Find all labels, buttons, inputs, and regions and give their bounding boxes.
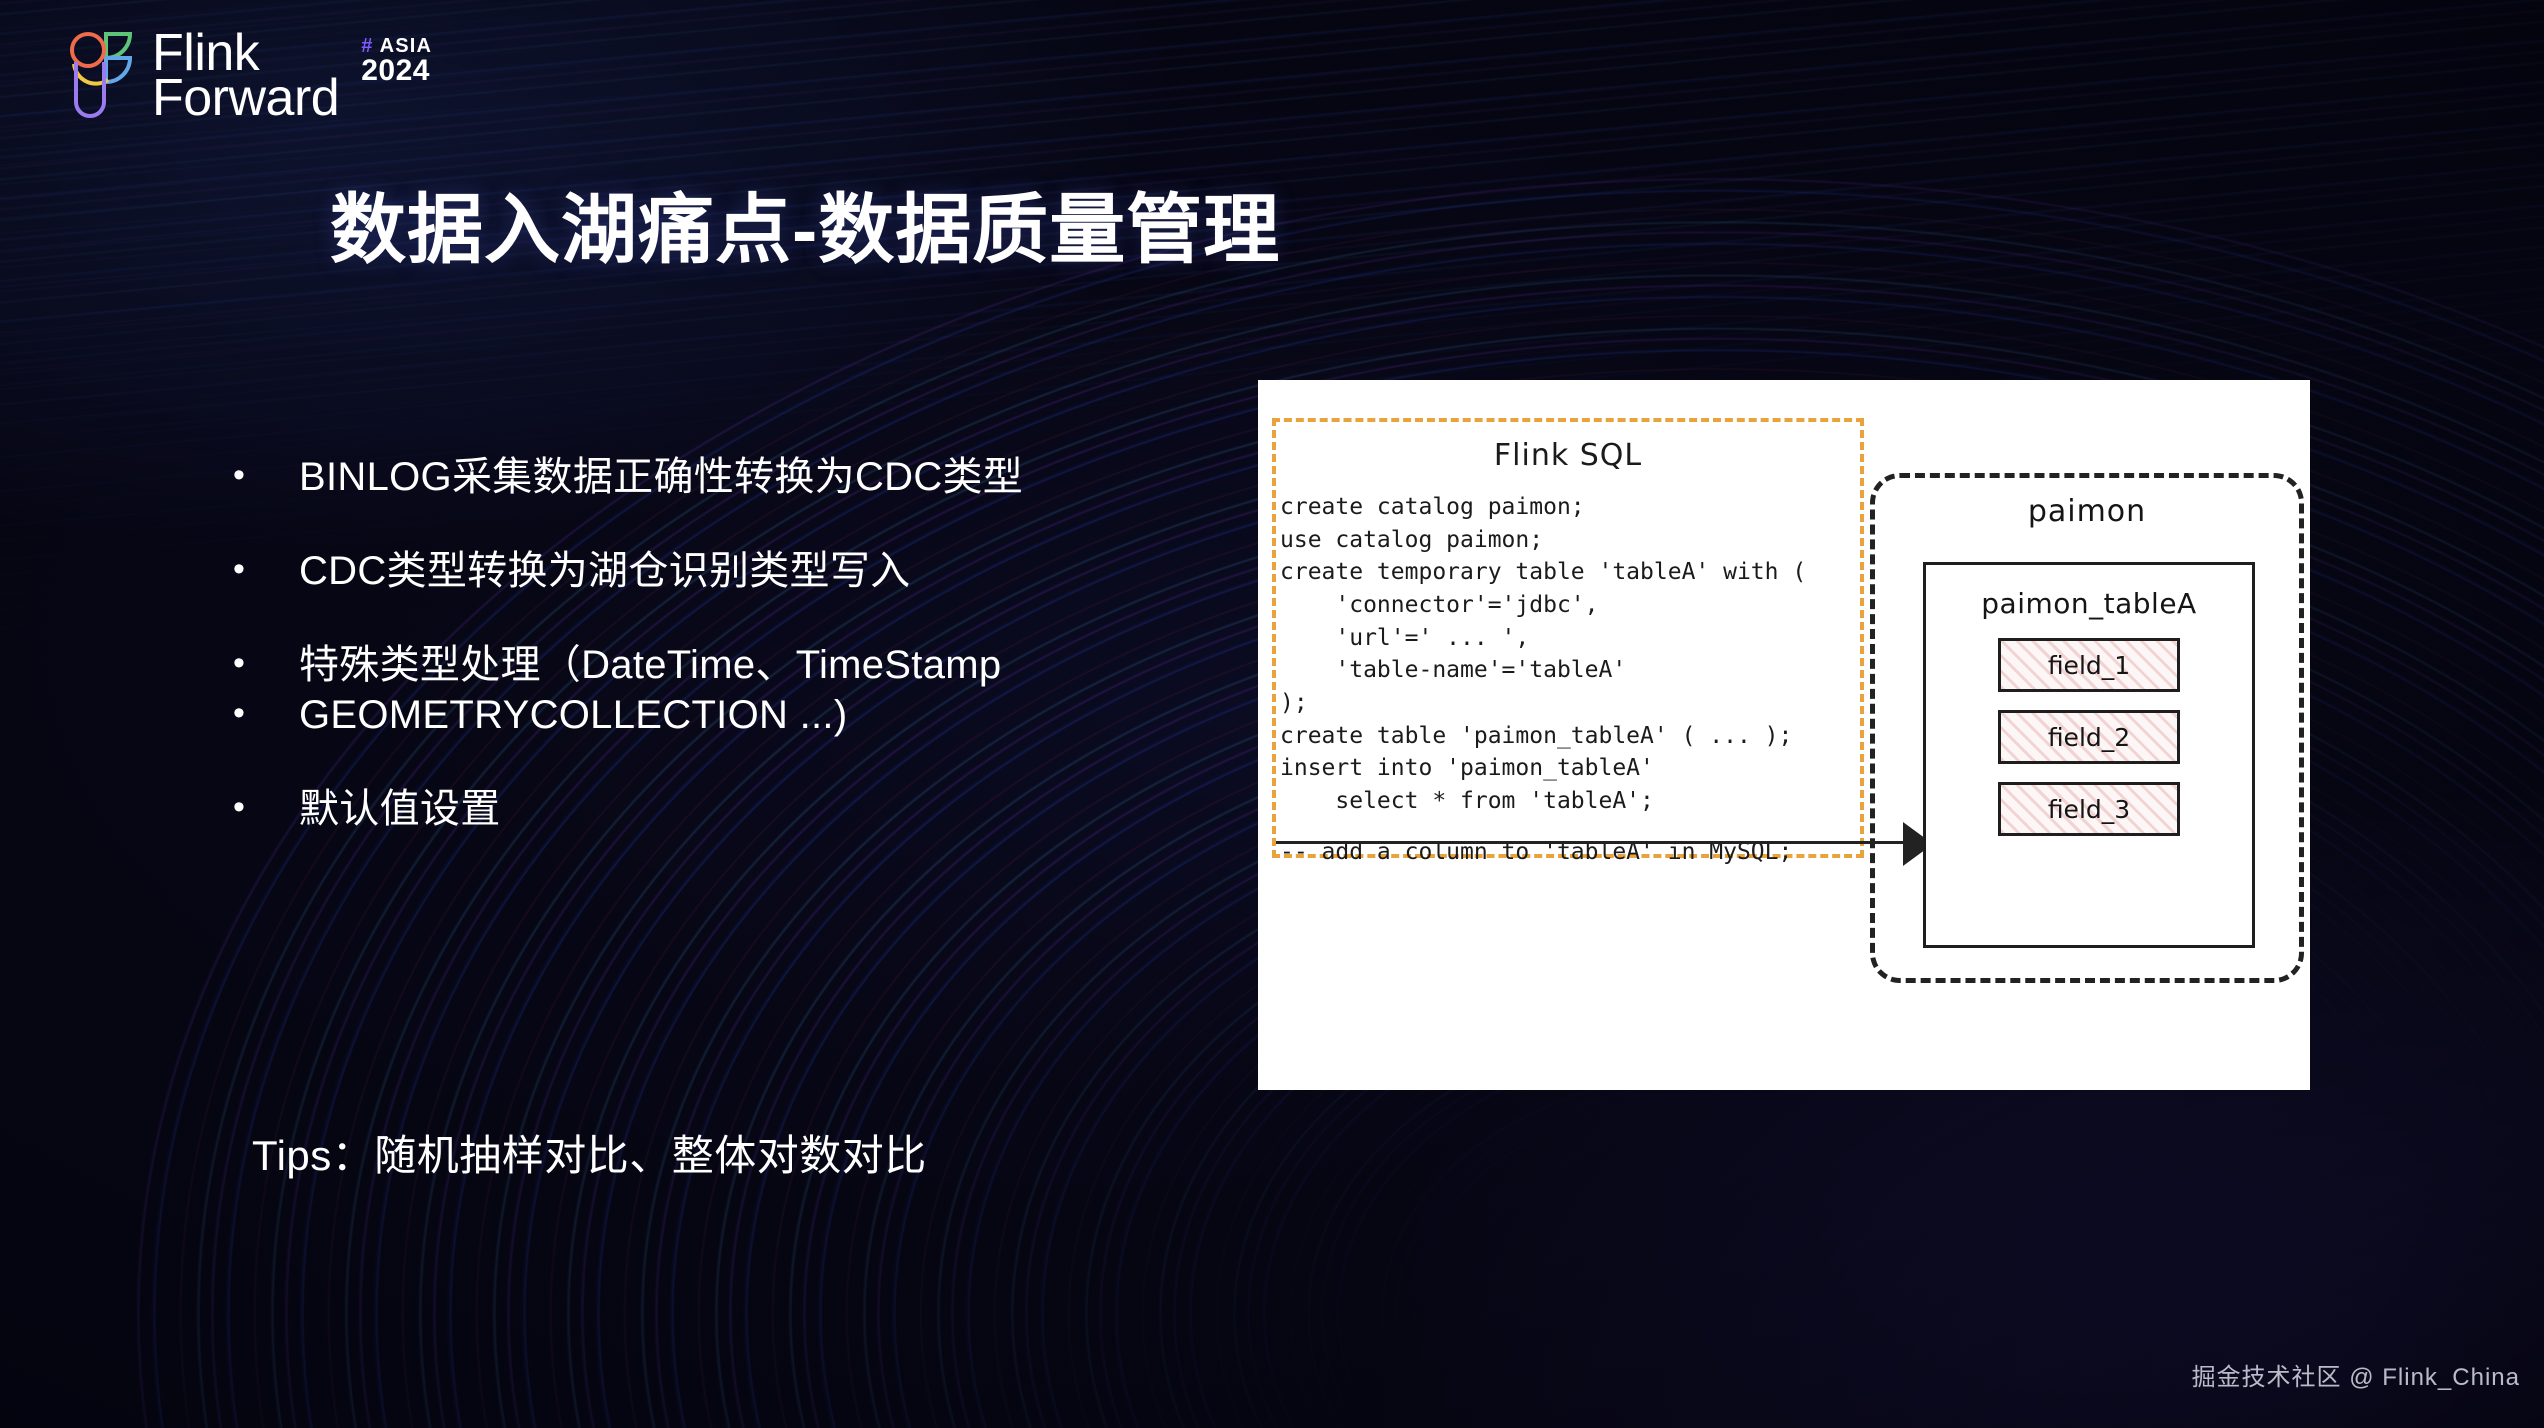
list-item-label: CDC类型转换为湖仓识别类型写入	[299, 546, 1225, 596]
list-item: • GEOMETRYCOLLECTION ...)	[225, 690, 1225, 740]
flink-sql-code: create catalog paimon; use catalog paimo…	[1280, 491, 1860, 818]
paimon-catalog-box: paimon paimon_tableA field_1 field_2 fie…	[1870, 473, 2304, 983]
bullet-list: • BINLOG采集数据正确性转换为CDC类型 • CDC类型转换为湖仓识别类型…	[225, 452, 1225, 834]
paimon-table-box: paimon_tableA field_1 field_2 field_3	[1923, 562, 2255, 948]
flow-arrow-line	[1276, 841, 1916, 844]
bullet-dot-icon: •	[225, 452, 299, 500]
bullet-dot-icon: •	[225, 690, 299, 738]
bullet-dot-icon: •	[225, 784, 299, 832]
paimon-label: paimon	[1875, 494, 2299, 529]
field-box: field_3	[1998, 782, 2180, 836]
bullet-dot-icon: •	[225, 640, 299, 688]
list-item: • BINLOG采集数据正确性转换为CDC类型	[225, 452, 1225, 502]
slide-root: Flink Forward # ASIA 2024 数据入湖痛点-数据质量管理 …	[0, 0, 2544, 1428]
field-box: field_1	[1998, 638, 2180, 692]
list-item-label: 默认值设置	[299, 784, 1225, 834]
list-item-label: GEOMETRYCOLLECTION ...)	[299, 690, 1225, 740]
list-item-label: BINLOG采集数据正确性转换为CDC类型	[299, 452, 1225, 502]
logo-word-forward: Forward	[152, 76, 339, 121]
list-item: • 特殊类型处理（DateTime、TimeStamp	[225, 640, 1225, 690]
logo-badge-year: 2024	[361, 56, 432, 86]
flink-sql-title: Flink SQL	[1276, 438, 1860, 473]
spacer	[225, 596, 1225, 640]
flink-logo-mark	[62, 28, 138, 118]
logo-badge: # ASIA 2024	[361, 28, 432, 86]
field-list: field_1 field_2 field_3	[1998, 638, 2180, 836]
logo-wordmark: Flink Forward	[152, 28, 339, 120]
logo-badge-region: # ASIA	[361, 36, 432, 56]
spacer	[225, 740, 1225, 784]
field-box: field_2	[1998, 710, 2180, 764]
list-item-label: 特殊类型处理（DateTime、TimeStamp	[299, 640, 1225, 690]
bullet-dot-icon: •	[225, 546, 299, 594]
page-title: 数据入湖痛点-数据质量管理	[330, 168, 1280, 278]
diagram-panel: Flink SQL create catalog paimon; use cat…	[1258, 380, 2310, 1090]
watermark: 掘金技术社区 @ Flink_China	[2192, 1357, 2520, 1392]
spacer	[225, 502, 1225, 546]
flink-forward-logo: Flink Forward # ASIA 2024	[62, 28, 432, 120]
flink-sql-box: Flink SQL create catalog paimon; use cat…	[1272, 418, 1864, 858]
list-item: • CDC类型转换为湖仓识别类型写入	[225, 546, 1225, 596]
tips-text: Tips：随机抽样对比、整体对数对比	[252, 1122, 927, 1183]
list-item: • 默认值设置	[225, 784, 1225, 834]
paimon-table-label: paimon_tableA	[1926, 587, 2252, 620]
